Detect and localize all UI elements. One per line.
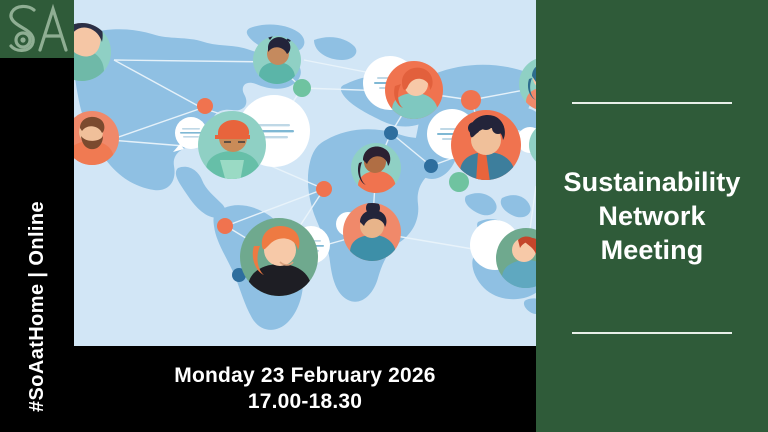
poster-canvas: Monday 23 February 2026 17.00-18.30 Sust… [0, 0, 768, 432]
event-time: 17.00-18.30 [248, 390, 362, 414]
event-date-band: Monday 23 February 2026 17.00-18.30 [74, 346, 536, 432]
page-title: Sustainability Network Meeting [536, 165, 768, 267]
logo-block [0, 0, 74, 58]
divider-top [572, 102, 732, 104]
rail-hashtag: #SoAatHome | Online [0, 92, 74, 412]
event-date: Monday 23 February 2026 [174, 364, 435, 388]
world-map-illustration [74, 0, 536, 346]
divider-bottom [572, 332, 732, 334]
title-panel: Sustainability Network Meeting [536, 0, 768, 432]
sa-monogram-logo-icon [0, 0, 74, 58]
left-rail: #SoAatHome | Online [0, 0, 74, 432]
world-map-panel [74, 0, 536, 346]
